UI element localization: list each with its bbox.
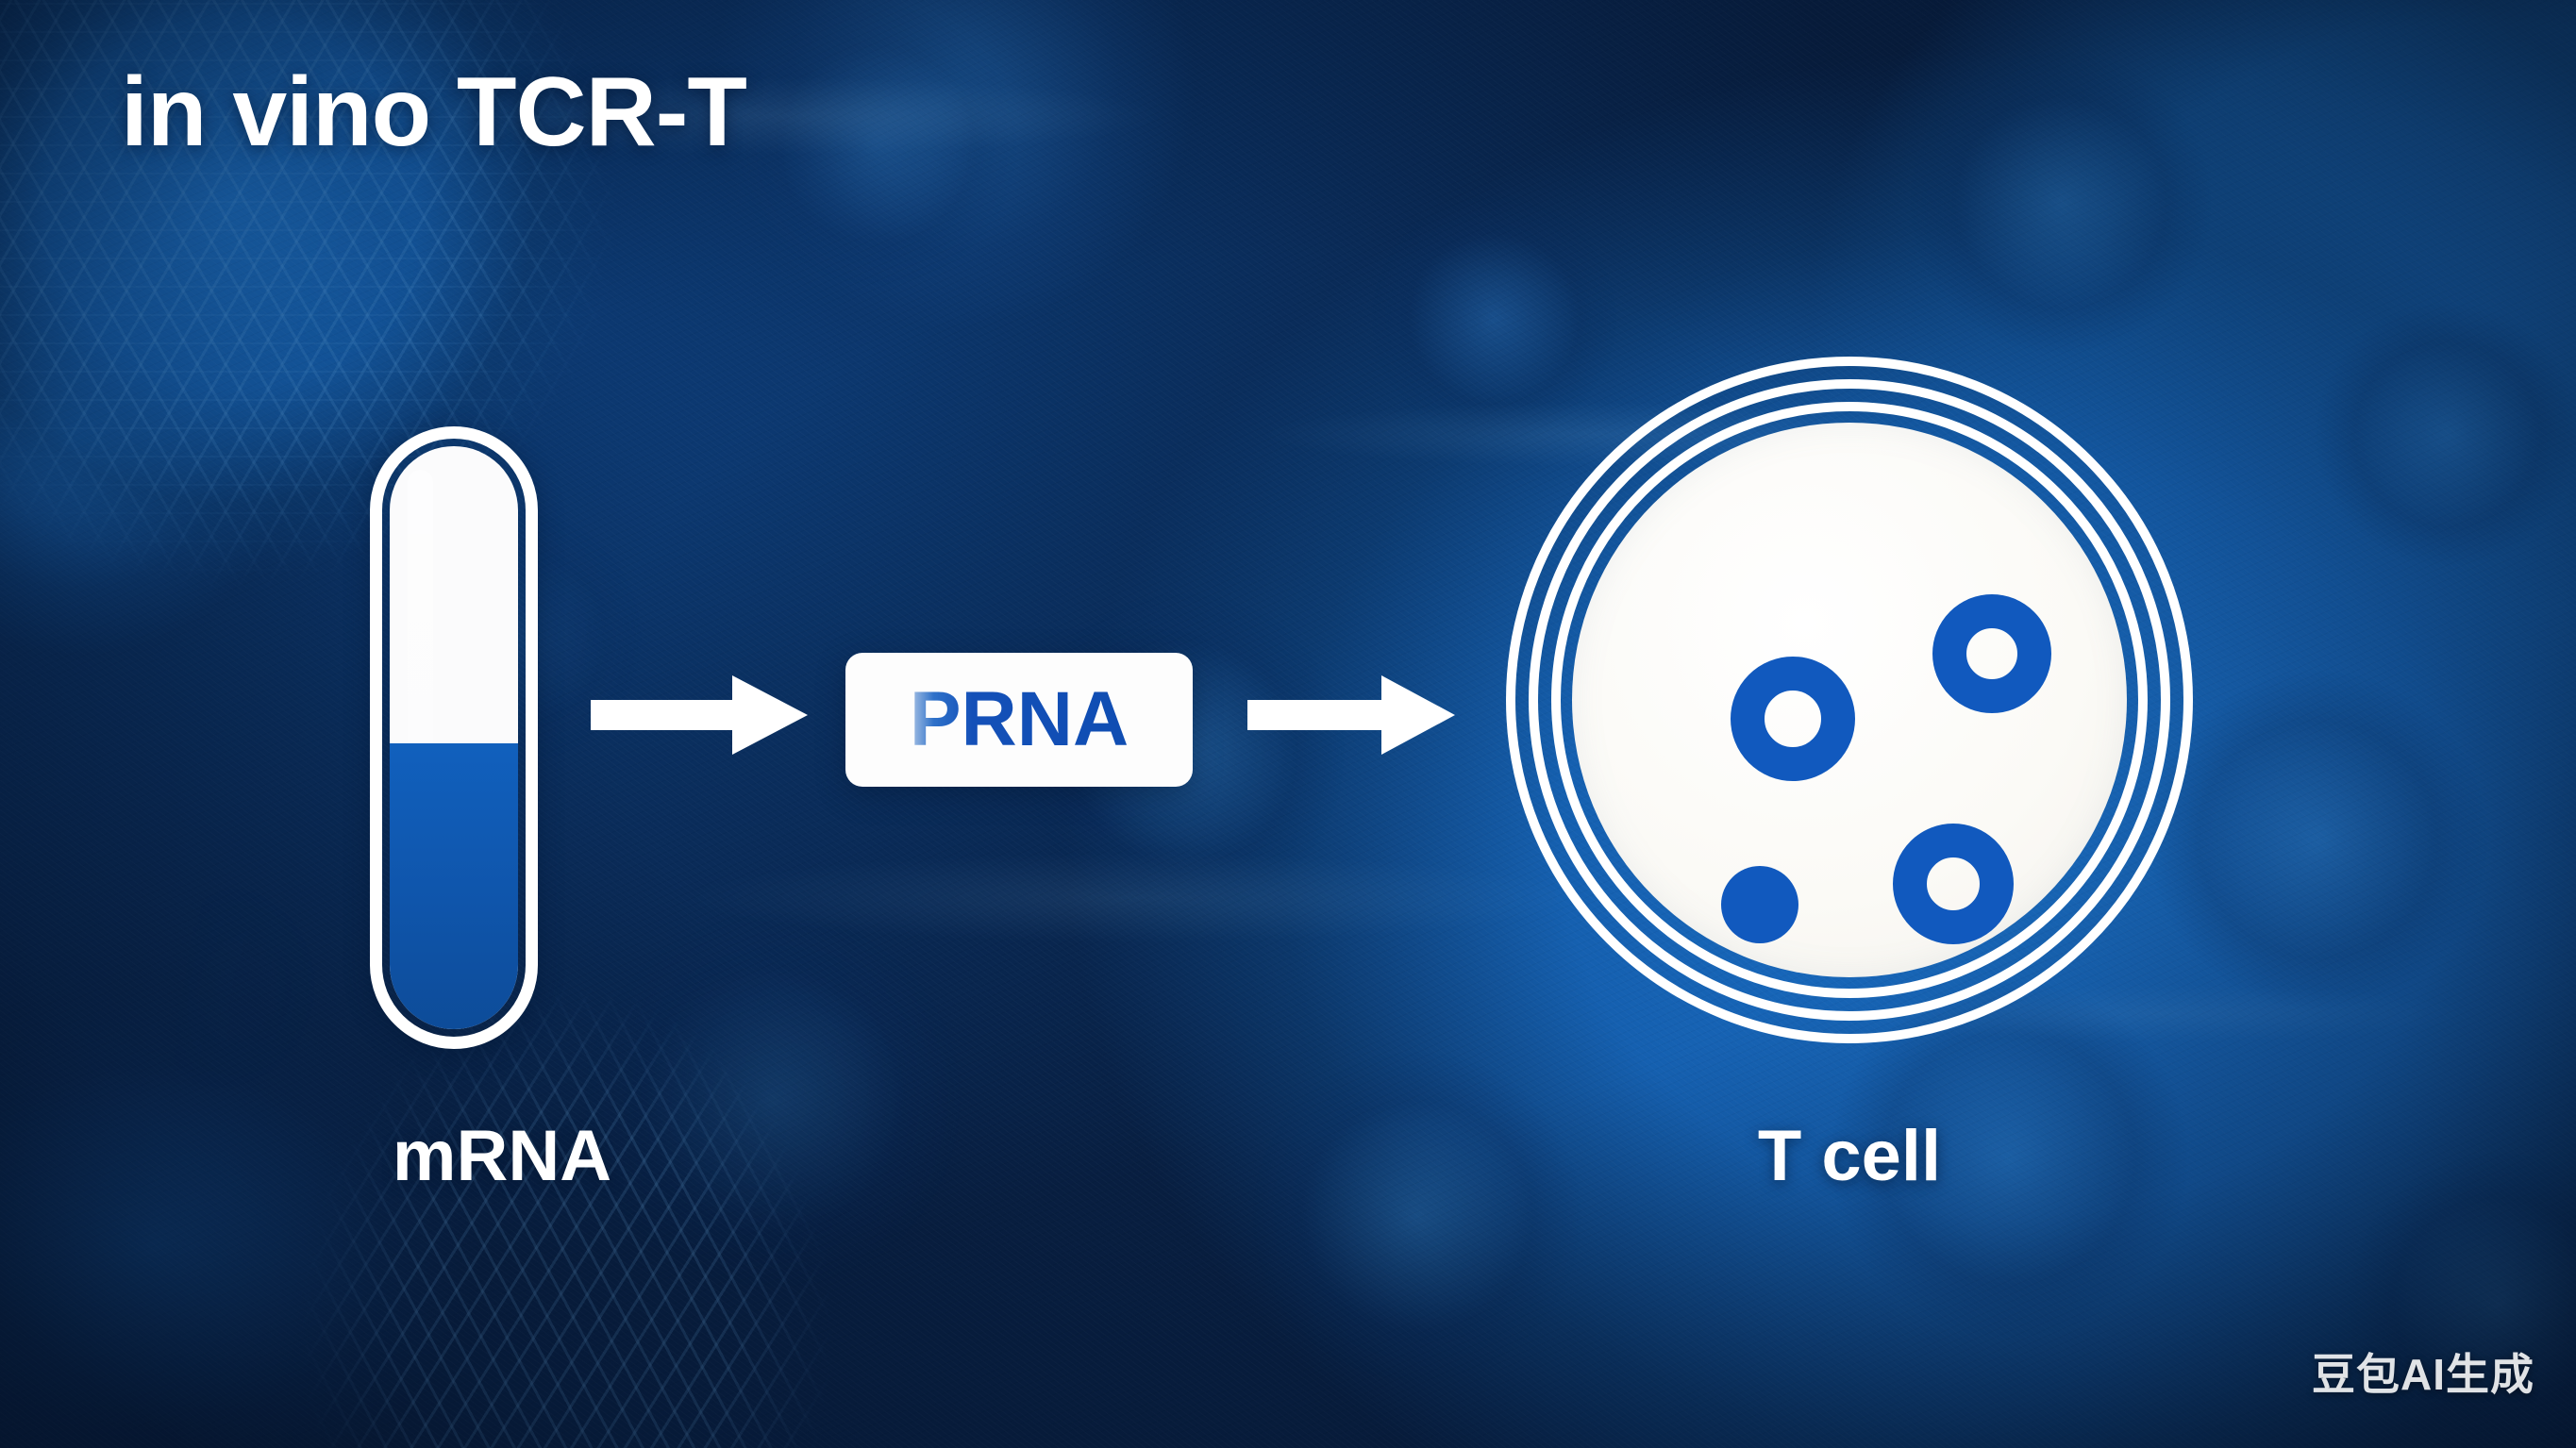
tcell-organelle-ring-2 xyxy=(1932,594,2051,713)
tcell-organelle-ring-3 xyxy=(1893,824,2014,944)
label-mrna: mRNA xyxy=(351,1115,653,1197)
poster-canvas: in vino TCR-T mRNA PRNA xyxy=(0,0,2576,1448)
label-tcell: T cell xyxy=(1698,1115,2000,1197)
diagram-foreground: in vino TCR-T mRNA PRNA xyxy=(0,0,2576,1448)
page-title: in vino TCR-T xyxy=(121,58,746,166)
arrow-right-icon-2 xyxy=(1247,675,1455,755)
cell-circle-icon xyxy=(1506,357,2193,1043)
tcell-organelle-ring-1 xyxy=(1731,657,1855,781)
label-prna: PRNA xyxy=(904,681,1134,758)
arrow-right-icon-1 xyxy=(591,675,808,755)
label-chip-icon: PRNA xyxy=(845,653,1193,787)
watermark: 豆包AI生成 xyxy=(2312,1340,2534,1403)
vial-capsule-icon xyxy=(370,426,538,1049)
tcell-organelle-dot xyxy=(1721,866,1798,943)
vial-outline xyxy=(370,426,538,1049)
tcell-cytoplasm xyxy=(1572,423,2127,977)
